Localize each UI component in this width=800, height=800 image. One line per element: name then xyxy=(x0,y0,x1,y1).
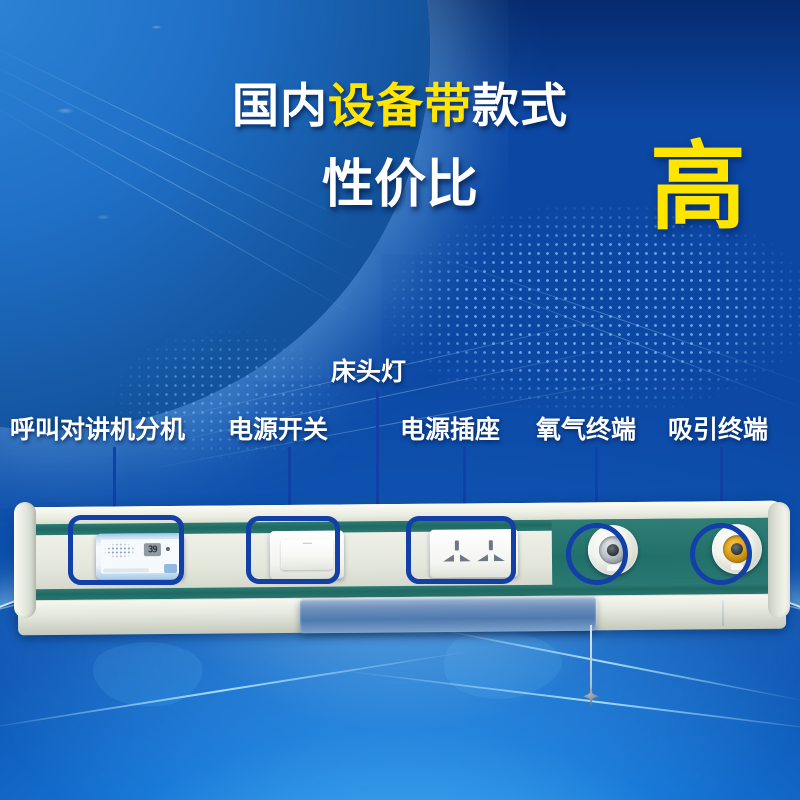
callout-label-power-switch: 电源开关 xyxy=(228,418,328,443)
panel-end-cap-right xyxy=(768,502,790,618)
highlight-box-power-switch xyxy=(246,516,340,584)
callout-label-intercom: 呼叫对讲机分机 xyxy=(10,418,185,443)
panel-end-cap-left xyxy=(14,502,36,618)
highlight-box-intercom xyxy=(68,515,184,585)
product-promo-image: 国内设备带款式 性价比 高 呼叫对讲机分机 电源开关 床头灯 电源插座 氧气终端… xyxy=(0,0,800,800)
oxygen-hose-cord xyxy=(596,600,598,626)
callout-label-oxygen-terminal: 氧气终端 xyxy=(536,418,636,443)
halftone-world-map-secondary xyxy=(90,300,390,490)
suction-pull-cord xyxy=(722,600,724,626)
callout-label-bedside-lamp: 床头灯 xyxy=(331,360,406,385)
headline-big-word: 高 xyxy=(650,140,746,236)
callout-label-suction-terminal: 吸引终端 xyxy=(668,418,768,443)
bedside-lamp-diffuser[interactable] xyxy=(300,597,596,634)
highlight-box-power-socket xyxy=(406,516,516,584)
callout-label-power-socket: 电源插座 xyxy=(400,418,500,443)
highlight-circle-oxygen-terminal xyxy=(566,523,628,585)
highlight-circle-suction-terminal xyxy=(690,523,752,585)
lamp-pull-cord xyxy=(590,625,592,697)
